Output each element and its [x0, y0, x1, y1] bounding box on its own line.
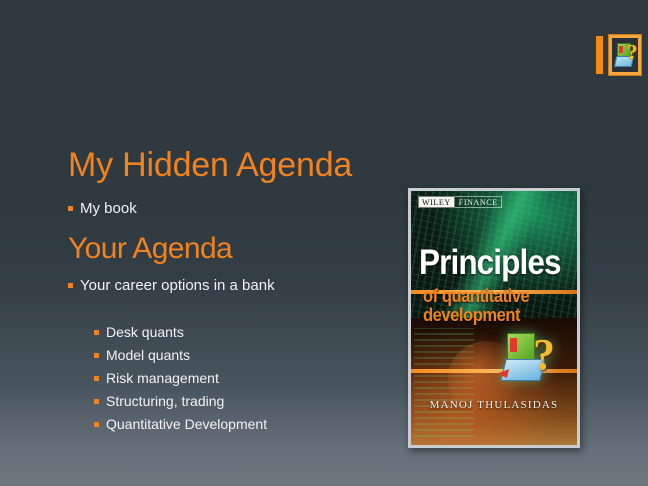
- book-cover-image: WILEY FINANCE Principles of quantitative…: [408, 188, 580, 448]
- book-cover-artwork: WILEY FINANCE Principles of quantitative…: [411, 191, 577, 445]
- bullet-square-icon: [94, 330, 99, 335]
- list-item-label: Structuring, trading: [106, 390, 318, 413]
- list-item: Structuring, trading: [94, 390, 318, 413]
- presentation-slide: ? My Hidden Agenda My book Your Agenda Y…: [0, 0, 648, 486]
- logo-frame-inner: ?: [612, 38, 638, 72]
- bullet-square-icon: [94, 399, 99, 404]
- slide-logo: ?: [596, 34, 642, 76]
- bullet-list-my-book: My book: [68, 199, 318, 219]
- cover-imprint-brand: WILEY: [418, 196, 455, 208]
- slide-title-my-hidden-agenda: My Hidden Agenda: [68, 146, 352, 184]
- list-item: Risk management: [94, 367, 318, 390]
- list-item: Your career options in a bank: [68, 276, 318, 296]
- logo-accent-bar: [596, 36, 603, 74]
- list-item-label: Your career options in a bank: [80, 276, 318, 296]
- list-item-label: Desk quants: [106, 321, 318, 344]
- list-item: Model quants: [94, 344, 318, 367]
- slide-subtitle-your-agenda: Your Agenda: [68, 232, 232, 266]
- logo-frame: ?: [608, 34, 642, 76]
- cover-subtitle-line2: development: [423, 306, 557, 325]
- cover-subtitle-line1: of quantitative: [423, 287, 557, 306]
- cover-imprint-series: FINANCE: [455, 196, 502, 208]
- bullet-square-icon: [94, 376, 99, 381]
- list-item: Desk quants: [94, 321, 318, 344]
- cover-icon-question-mark: ?: [533, 333, 555, 377]
- bullet-square-icon: [68, 283, 73, 288]
- cover-title: Principles: [419, 245, 561, 280]
- list-item-label: Risk management: [106, 367, 318, 390]
- cover-icon-book: [507, 333, 535, 361]
- list-item-label: Model quants: [106, 344, 318, 367]
- list-item-label: Quantitative Development: [106, 413, 318, 436]
- list-item-label: My book: [80, 199, 318, 219]
- cover-imprint: WILEY FINANCE: [418, 196, 502, 208]
- bullet-square-icon: [68, 206, 73, 211]
- cover-book-question-icon: ?: [503, 333, 559, 387]
- cover-subtitle: of quantitative development: [423, 287, 557, 325]
- cover-author: MANOJ THULASIDAS: [411, 399, 577, 411]
- logo-question-mark-icon: ?: [627, 42, 638, 63]
- bullet-list-your-agenda-top: Your career options in a bank: [68, 276, 318, 296]
- list-item: My book: [68, 199, 318, 219]
- bullet-list-career-options: Desk quants Model quants Risk management…: [68, 321, 318, 436]
- bullet-square-icon: [94, 353, 99, 358]
- list-item: Quantitative Development: [94, 413, 318, 436]
- bullet-square-icon: [94, 422, 99, 427]
